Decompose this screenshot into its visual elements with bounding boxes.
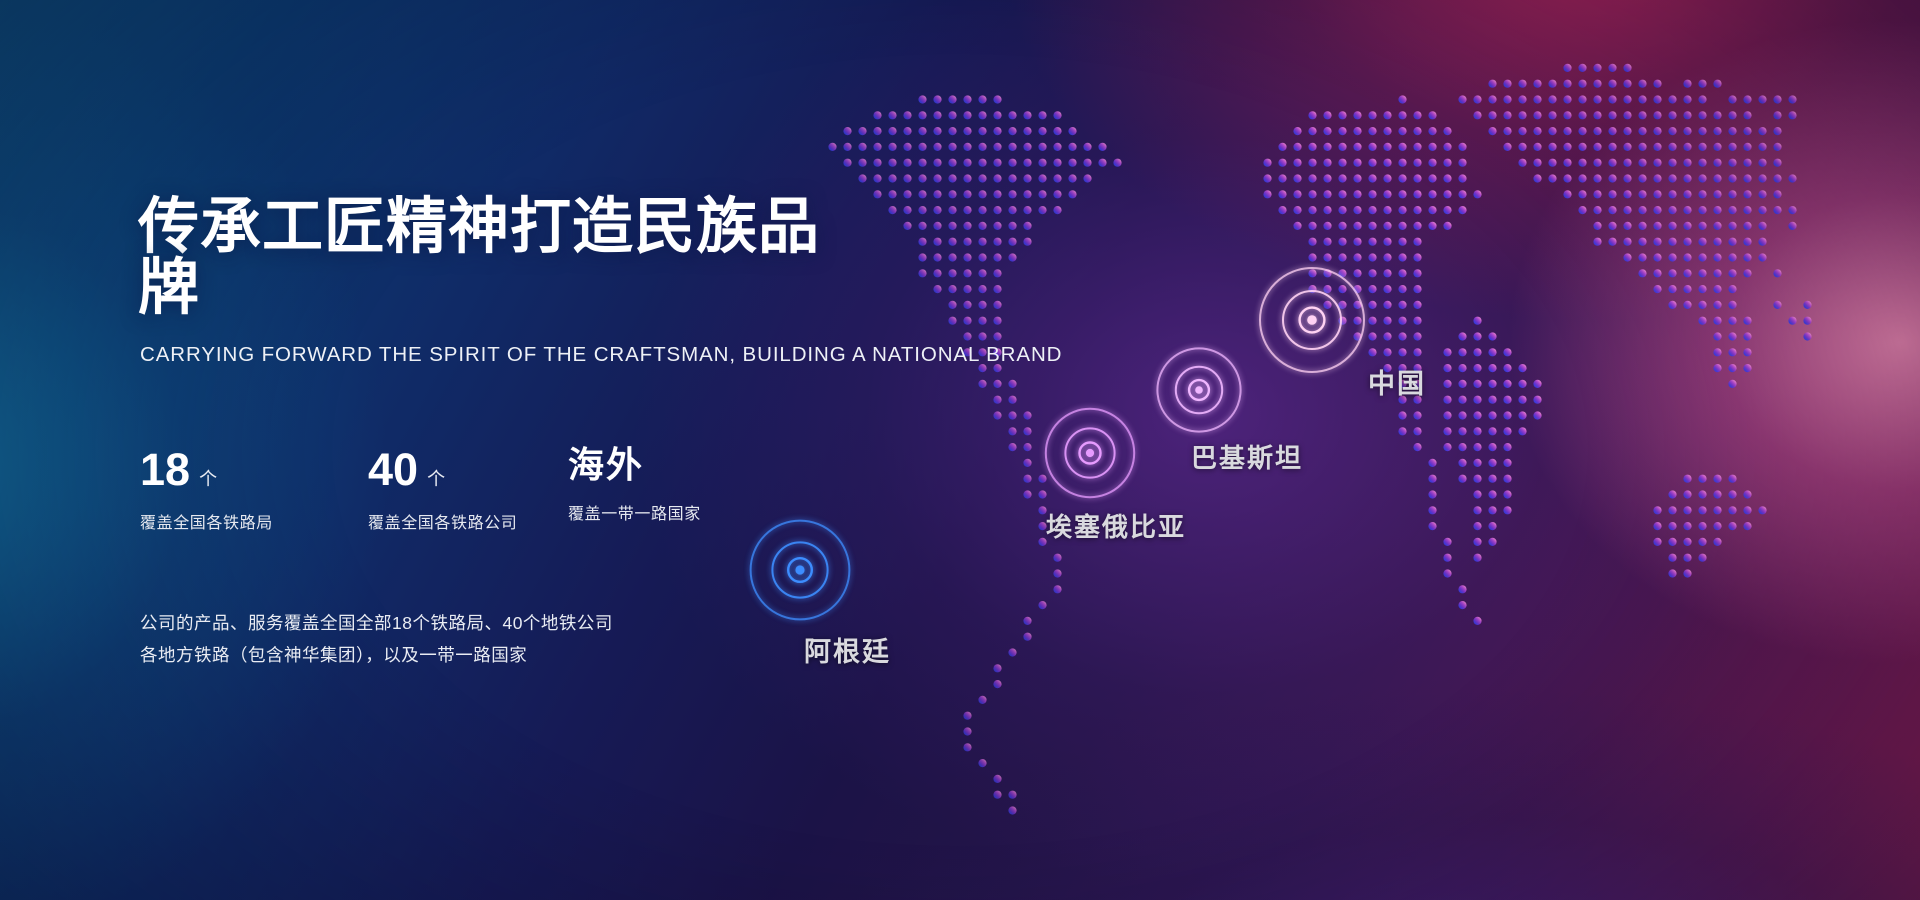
stat-number: 40 xyxy=(368,447,418,492)
page-title: 传承工匠精神打造民族品牌 xyxy=(138,196,858,318)
stat-item-2: 40个覆盖全国各铁路公司 xyxy=(368,447,568,533)
stats-row: 18个覆盖全国各铁路局40个覆盖全国各铁路公司海外覆盖一带一路国家 xyxy=(140,447,858,533)
stat-item-3: 海外覆盖一带一路国家 xyxy=(568,447,701,533)
hero-content: 传承工匠精神打造民族品牌 CARRYING FORWARD THE SPIRIT… xyxy=(138,196,858,672)
description-line-1: 公司的产品、服务覆盖全国全部18个铁路局、40个地铁公司 xyxy=(140,607,858,639)
stat-number: 海外 xyxy=(568,447,644,483)
page-subtitle: CARRYING FORWARD THE SPIRIT OF THE CRAFT… xyxy=(140,343,858,367)
stat-value-row: 40个 xyxy=(368,447,568,492)
stat-item-1: 18个覆盖全国各铁路局 xyxy=(140,447,368,533)
stat-label: 覆盖全国各铁路公司 xyxy=(368,509,568,533)
stat-unit: 个 xyxy=(199,465,217,491)
stat-label: 覆盖一带一路国家 xyxy=(568,500,701,524)
stat-label: 覆盖全国各铁路局 xyxy=(140,509,368,533)
description-line-2: 各地方铁路（包含神华集团），以及一带一路国家 xyxy=(140,639,858,671)
stat-value-row: 海外 xyxy=(568,447,701,483)
stat-unit: 个 xyxy=(427,465,445,491)
hero-banner: 中国巴基斯坦埃塞俄比亚阿根廷 传承工匠精神打造民族品牌 CARRYING FOR… xyxy=(0,0,1920,900)
stat-value-row: 18个 xyxy=(140,447,368,492)
description-paragraph: 公司的产品、服务覆盖全国全部18个铁路局、40个地铁公司 各地方铁路（包含神华集… xyxy=(140,607,858,672)
stat-number: 18 xyxy=(140,447,190,492)
